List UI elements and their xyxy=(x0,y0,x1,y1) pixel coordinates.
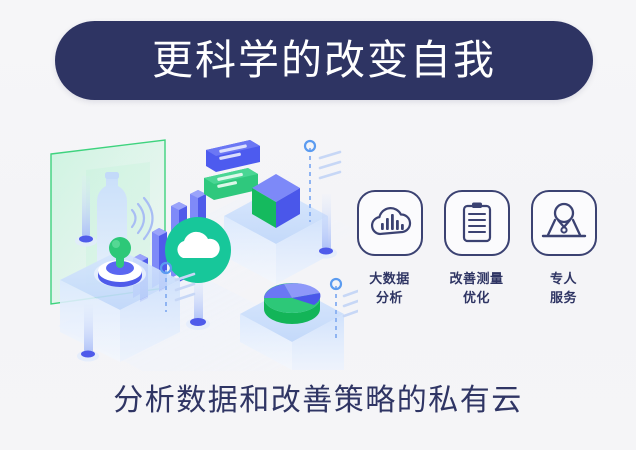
feature-label-big-data: 大数据 分析 xyxy=(369,270,410,308)
feature-label-service: 专人 服务 xyxy=(550,270,577,308)
service-person-icon-frame xyxy=(531,190,597,256)
feature-list: 大数据 分析 改善测量 优化 xyxy=(352,190,602,330)
clipboard-icon xyxy=(457,201,497,245)
tagline: 分析数据和改善策略的私有云 xyxy=(0,386,636,416)
service-person-icon xyxy=(540,201,588,245)
cloud-chart-icon-frame xyxy=(357,190,423,256)
title-banner: 更科学的改变自我 xyxy=(55,21,593,100)
signage-card-blue xyxy=(206,140,260,172)
page-title: 更科学的改变自我 xyxy=(152,40,496,81)
pie-chart xyxy=(264,283,320,324)
feature-item-big-data[interactable]: 大数据 分析 xyxy=(352,190,427,308)
feature-item-measurement[interactable]: 改善测量 优化 xyxy=(439,190,514,308)
hero-illustration xyxy=(28,126,358,371)
feature-label-measurement: 改善测量 优化 xyxy=(449,270,503,308)
cloud-chart-icon xyxy=(368,203,412,243)
promo-banner-page: 更科学的改变自我 xyxy=(0,0,636,450)
clipboard-icon-frame xyxy=(444,190,510,256)
feature-item-service[interactable]: 专人 服务 xyxy=(526,190,601,308)
